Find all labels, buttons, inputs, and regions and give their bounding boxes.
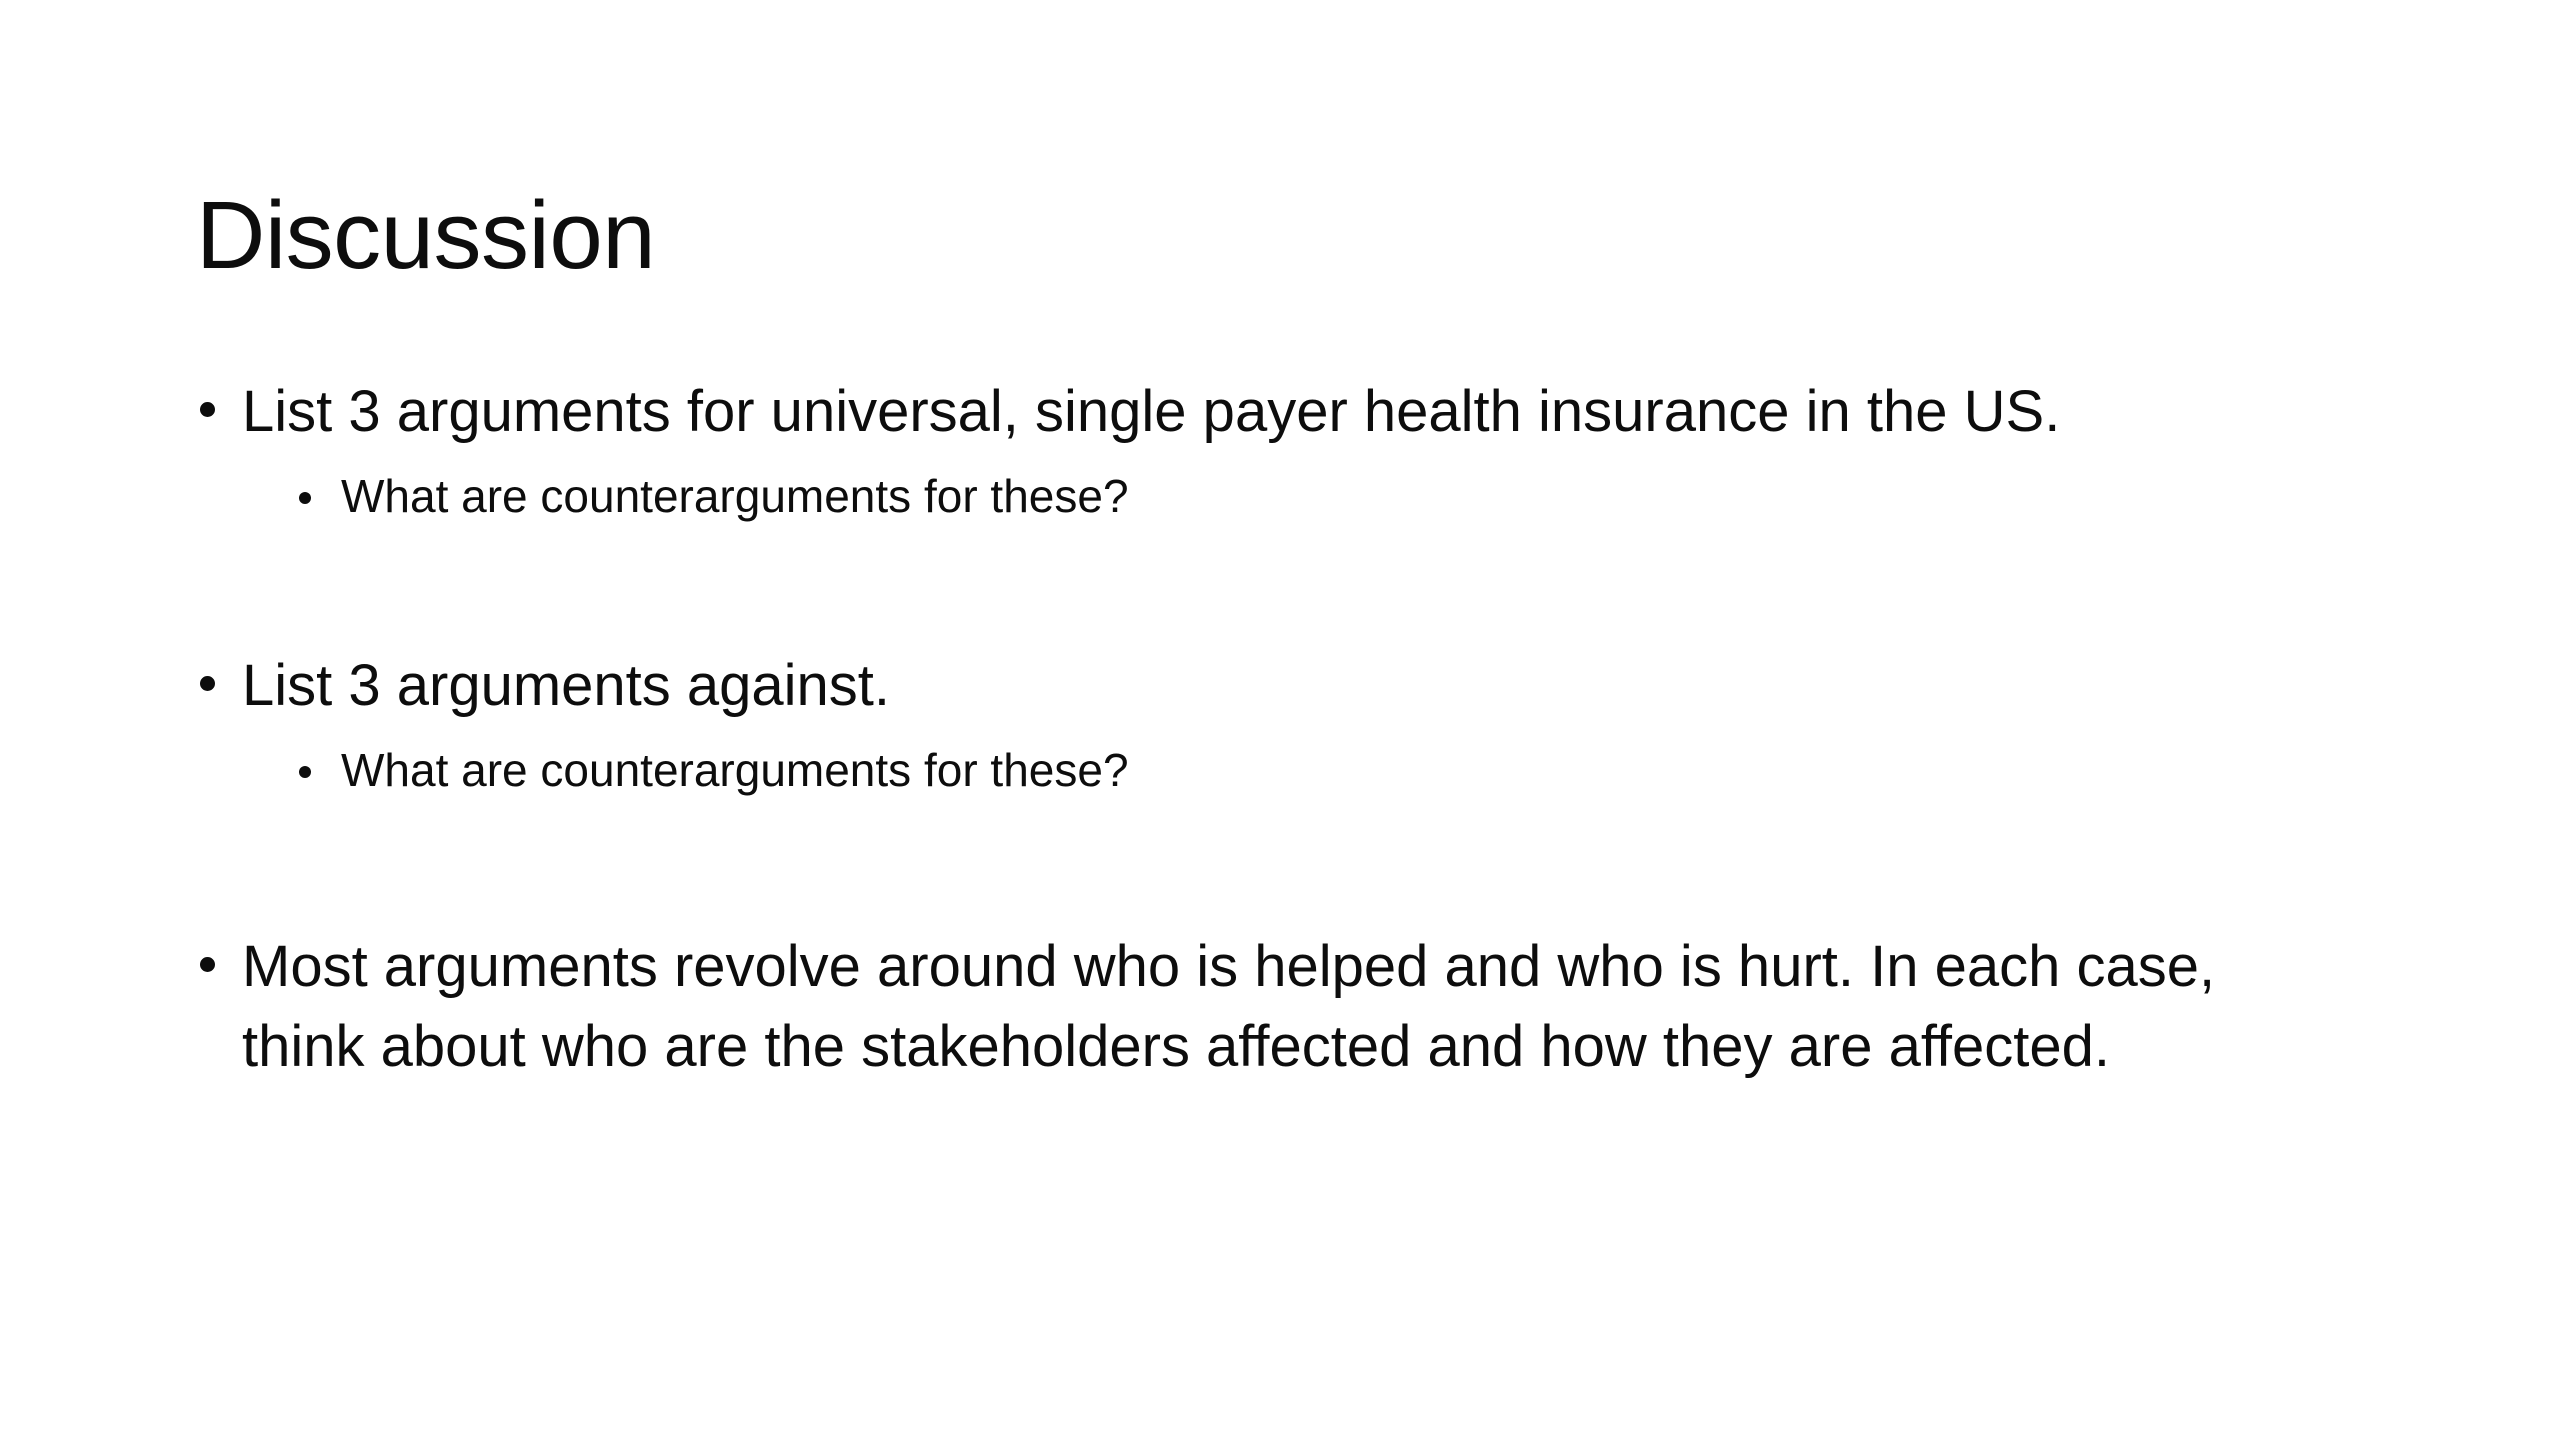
sub-list-item-label: What are counterarguments for these? — [341, 740, 2436, 802]
sub-bullet-dot-icon — [296, 466, 341, 504]
list-item-label: List 3 arguments for universal, single p… — [242, 372, 2242, 452]
sub-list-item: What are counterarguments for these? — [296, 466, 2436, 528]
presentation-slide: Discussion List 3 arguments for universa… — [0, 0, 2560, 1440]
bullet-group: Most arguments revolve around who is hel… — [196, 927, 2436, 1087]
bullet-group: List 3 arguments for universal, single p… — [196, 372, 2436, 528]
page-title: Discussion — [196, 184, 2396, 288]
bullet-dot-icon — [196, 646, 242, 691]
bullet-dot-icon — [196, 927, 242, 972]
block-spacer — [196, 857, 2436, 927]
list-item: List 3 arguments against. — [196, 646, 2436, 726]
bullet-group: List 3 arguments against. What are count… — [196, 646, 2436, 802]
list-item: Most arguments revolve around who is hel… — [196, 927, 2436, 1087]
sub-list-item-label: What are counterarguments for these? — [341, 466, 2436, 528]
list-item-label: List 3 arguments against. — [242, 646, 2242, 726]
bullet-dot-icon — [196, 372, 242, 417]
sub-list-item: What are counterarguments for these? — [296, 740, 2436, 802]
sub-bullet-dot-icon — [296, 740, 341, 778]
list-item: List 3 arguments for universal, single p… — [196, 372, 2436, 452]
block-spacer — [196, 584, 2436, 646]
slide-body-content: List 3 arguments for universal, single p… — [196, 372, 2436, 1087]
list-item-label: Most arguments revolve around who is hel… — [242, 927, 2242, 1087]
